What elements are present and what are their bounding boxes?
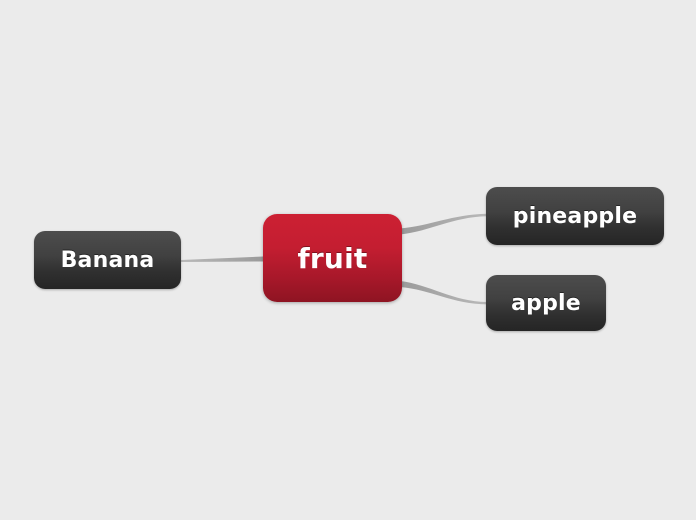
edge-fruit-banana	[181, 257, 263, 263]
mindmap-canvas: fruit Banana pineapple apple	[0, 0, 696, 520]
edge-fruit-apple	[400, 281, 487, 304]
node-fruit[interactable]: fruit	[263, 214, 402, 302]
node-banana[interactable]: Banana	[34, 231, 181, 289]
node-pineapple-label: pineapple	[513, 204, 637, 229]
node-apple-label: apple	[511, 291, 581, 316]
node-apple[interactable]: apple	[486, 275, 606, 331]
node-banana-label: Banana	[61, 248, 155, 273]
node-pineapple[interactable]: pineapple	[486, 187, 664, 245]
edge-fruit-pineapple	[400, 214, 487, 235]
node-fruit-label: fruit	[298, 242, 368, 275]
